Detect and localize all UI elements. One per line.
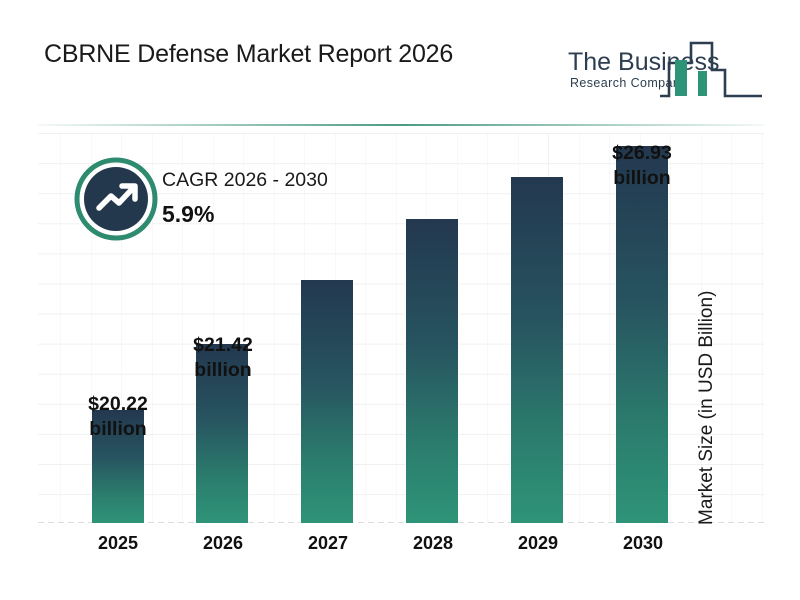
bar-value-amount-2025: $20.22 [52, 392, 184, 417]
bar-2029[interactable] [511, 177, 563, 523]
bar-value-amount-2030: $26.93 [576, 141, 708, 166]
x-tick-2030: 2030 [577, 533, 709, 554]
cagr-period-label: CAGR 2026 - 2030 [162, 169, 328, 192]
company-logo: The Business Research Company [562, 30, 767, 102]
bar-value-amount-2026: $21.42 [157, 333, 289, 358]
trending-up-icon [74, 157, 158, 241]
cagr-badge: CAGR 2026 - 2030 5.9% [74, 157, 384, 249]
bar-value-unit-2026: billion [157, 358, 289, 383]
svg-text:The Business: The Business [568, 48, 719, 76]
header-divider [38, 124, 764, 126]
bar-2027[interactable] [301, 280, 353, 523]
y-axis-title-wrapper: Market Size (in USD Billion) [718, 225, 758, 525]
bar-value-label-2026: $21.42 billion [157, 333, 289, 382]
cagr-value-label: 5.9% [162, 201, 214, 228]
bar-chart-logo-mark: The Business Research Company [562, 30, 767, 102]
bar-value-unit-2030: billion [576, 166, 708, 191]
chart-page: CBRNE Defense Market Report 2026 The Bus… [0, 0, 800, 600]
bar-value-label-2030: $26.93 billion [576, 141, 708, 190]
bar-value-unit-2025: billion [52, 417, 184, 442]
page-title: CBRNE Defense Market Report 2026 [44, 40, 453, 69]
bar-2028[interactable] [406, 219, 458, 523]
y-axis-title: Market Size (in USD Billion) [696, 291, 718, 525]
bar-value-label-2025: $20.22 billion [52, 392, 184, 441]
bar-2030[interactable] [616, 146, 668, 523]
